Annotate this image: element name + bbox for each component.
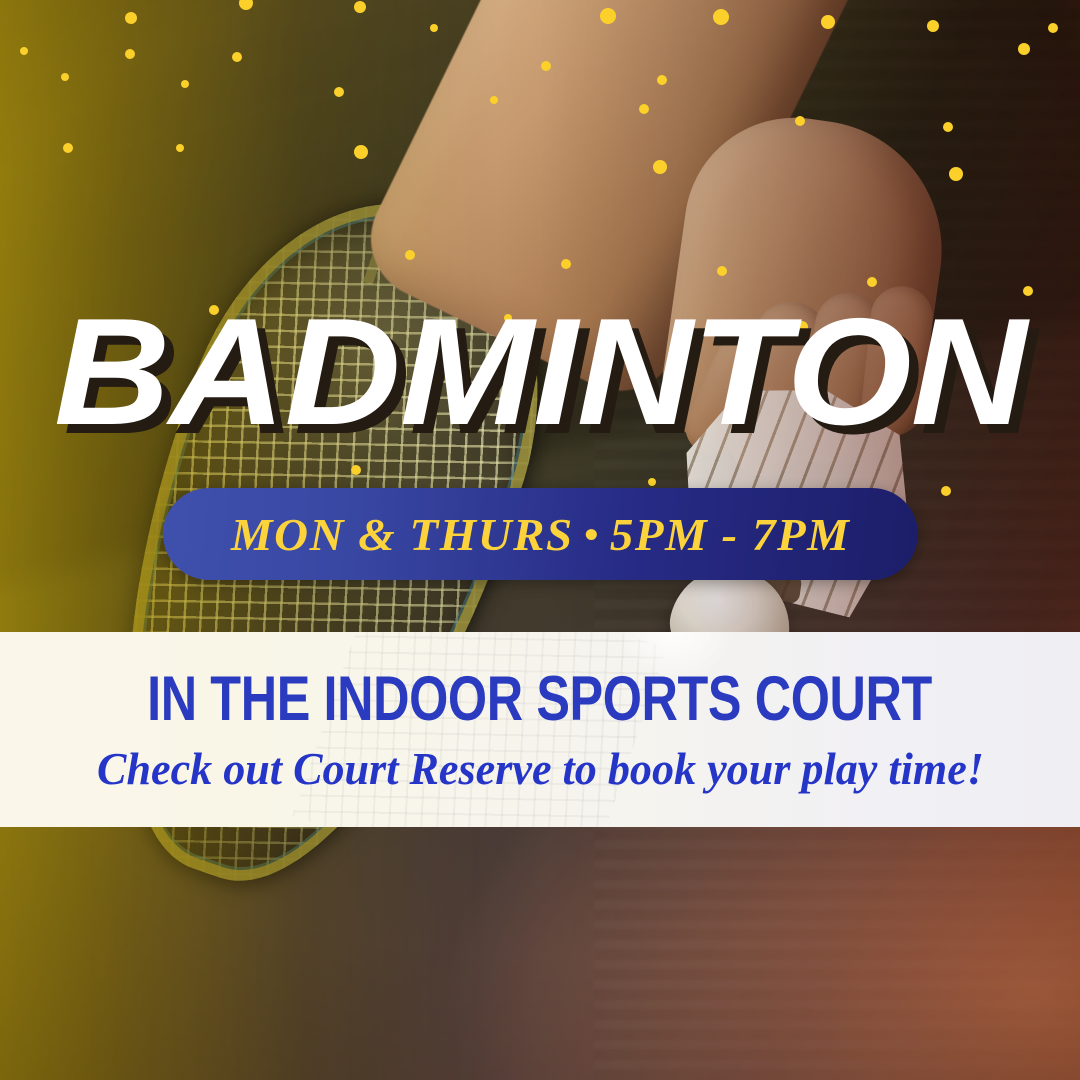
badminton-promo-poster: BADMINTON MON & THURS•5PM - 7PM IN THE I… [0, 0, 1080, 1080]
schedule-separator-dot: • [573, 512, 609, 557]
booking-tagline: Check out Court Reserve to book your pla… [97, 747, 984, 792]
schedule-pill: MON & THURS•5PM - 7PM [163, 488, 918, 580]
info-band: IN THE INDOOR SPORTS COURT Check out Cou… [0, 632, 1080, 827]
page-title: BADMINTON [0, 296, 1080, 448]
schedule-time: 5PM - 7PM [610, 509, 851, 560]
location-heading: IN THE INDOOR SPORTS COURT [148, 668, 933, 731]
schedule-text: MON & THURS•5PM - 7PM [231, 508, 850, 561]
schedule-days: MON & THURS [231, 509, 574, 560]
